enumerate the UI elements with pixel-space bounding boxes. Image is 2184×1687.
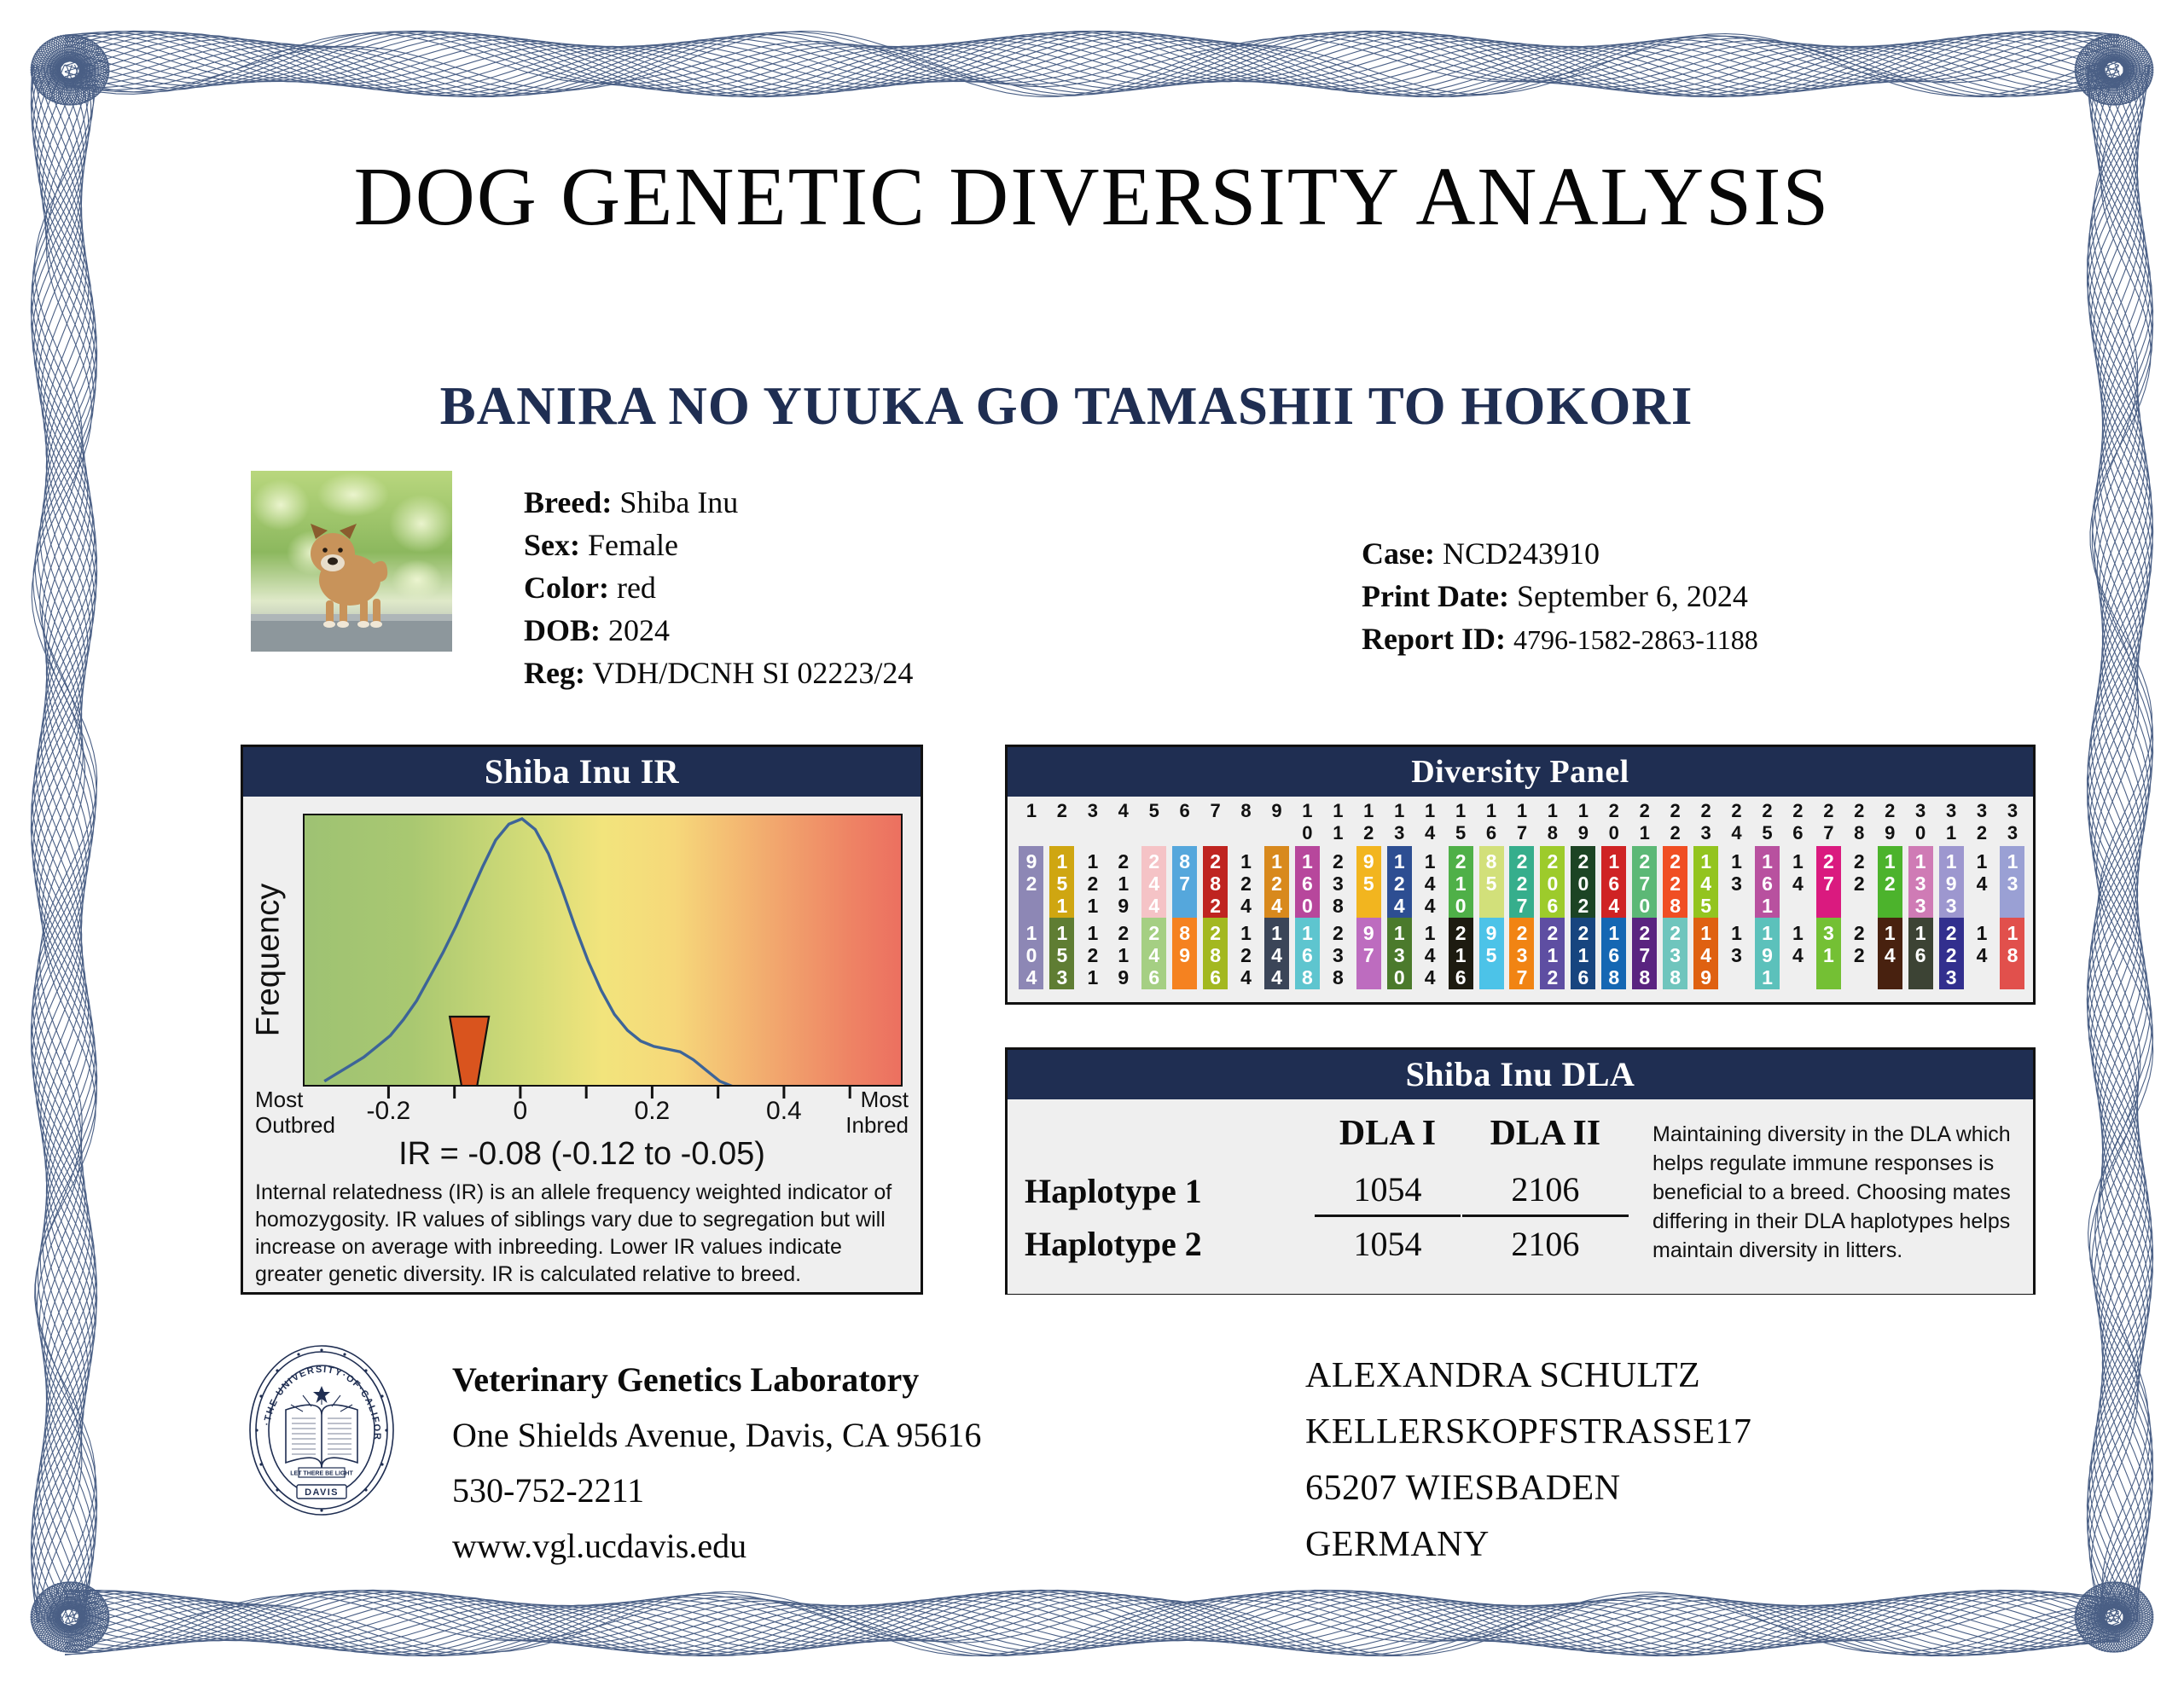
- diversity-column-number: 16: [1482, 797, 1501, 846]
- diversity-allele-2: 168: [1295, 918, 1320, 989]
- ir-tick-label: -0.2: [367, 1097, 411, 1126]
- diversity-allele-1: 27: [1816, 846, 1841, 918]
- diversity-allele-2: 278: [1632, 918, 1657, 989]
- reg-label: Reg:: [524, 656, 585, 690]
- diversity-allele-1: 164: [1601, 846, 1626, 918]
- diversity-column-20: 20164168: [1599, 797, 1629, 1002]
- dog-name-heading: BANIRA NO YUUKA GO TAMASHII TO HOKORI: [0, 375, 2133, 438]
- diversity-allele-2: 149: [1693, 918, 1718, 989]
- diversity-allele-2: 223: [1939, 918, 1964, 989]
- sex-value: Female: [588, 528, 678, 562]
- case-value: NCD243910: [1443, 536, 1600, 571]
- print-date-value: September 6, 2024: [1517, 579, 1748, 613]
- diversity-allele-1: 210: [1449, 846, 1473, 918]
- table-row: Haplotype 2 1054 2106: [1018, 1219, 1629, 1269]
- diversity-allele-1: 92: [1019, 846, 1043, 918]
- diversity-panel-columns: 1921042151153312112142192195244246687897…: [1016, 797, 2028, 1002]
- diversity-allele-1: 202: [1571, 846, 1595, 918]
- page-title: DOG GENETIC DIVERSITY ANALYSIS: [0, 149, 2184, 244]
- diversity-allele-2: 238: [1326, 918, 1350, 989]
- diversity-allele-1: 22: [1847, 846, 1872, 918]
- diversity-column-7: 7282286: [1200, 797, 1231, 1002]
- diversity-column-22: 22228238: [1660, 797, 1691, 1002]
- diversity-column-21: 21270278: [1629, 797, 1660, 1002]
- breed-label: Breed:: [524, 485, 612, 519]
- diversity-allele-1: 124: [1387, 846, 1412, 918]
- ir-tick-label: 0.4: [766, 1097, 802, 1126]
- diversity-column-number: 25: [1757, 797, 1776, 846]
- diversity-column-number: 15: [1451, 797, 1470, 846]
- ir-plot-wrap: Frequency: [303, 814, 903, 1087]
- uc-davis-seal: ·THE·UNIVERSITY·OF·CALIFORNIA· LET THERE…: [247, 1343, 397, 1518]
- diversity-allele-2: 219: [1111, 918, 1136, 989]
- diversity-allele-2: 97: [1356, 918, 1381, 989]
- diversity-allele-2: 16: [1908, 918, 1933, 989]
- diversity-panel-title: Diversity Panel: [1008, 747, 2033, 797]
- diversity-column-27: 272731: [1813, 797, 1844, 1002]
- diversity-column-30: 3013316: [1905, 797, 1936, 1002]
- diversity-column-number: 14: [1420, 797, 1439, 846]
- diversity-allele-1: 87: [1172, 846, 1197, 918]
- diversity-allele-1: 144: [1418, 846, 1443, 918]
- diversity-allele-1: 85: [1479, 846, 1504, 918]
- dla1-header: DLA I: [1315, 1108, 1461, 1162]
- diversity-panel: Diversity Panel 192104215115331211214219…: [1005, 745, 2036, 1005]
- diversity-allele-2: 124: [1234, 918, 1258, 989]
- diversity-column-2: 2151153: [1047, 797, 1077, 1002]
- case-label: Case:: [1362, 536, 1435, 571]
- reg-value: VDH/DCNH SI 02223/24: [592, 656, 913, 690]
- diversity-allele-1: 124: [1234, 846, 1258, 918]
- haplotype1-label: Haplotype 1: [1018, 1164, 1313, 1217]
- dog-photo: [251, 471, 452, 652]
- diversity-allele-2: 286: [1203, 918, 1228, 989]
- case-row: Case: NCD243910: [1362, 532, 1758, 575]
- diversity-column-29: 291214: [1874, 797, 1905, 1002]
- diversity-column-19: 19202216: [1568, 797, 1599, 1002]
- dog-info-block: Breed: Shiba Inu Sex: Female Color: red …: [524, 481, 913, 694]
- diversity-column-10: 10160168: [1292, 797, 1322, 1002]
- diversity-column-28: 282222: [1844, 797, 1874, 1002]
- diversity-allele-1: 13: [1724, 846, 1749, 918]
- diversity-column-11: 11238238: [1322, 797, 1353, 1002]
- diversity-allele-2: 212: [1540, 918, 1565, 989]
- report-id-label: Report ID:: [1362, 622, 1506, 656]
- diversity-column-number: 30: [1911, 797, 1930, 846]
- ir-most-inbred-label: MostInbred: [845, 1087, 909, 1138]
- diversity-column-24: 241313: [1722, 797, 1752, 1002]
- diversity-column-5: 5244246: [1139, 797, 1170, 1002]
- diversity-column-4: 4219219: [1108, 797, 1139, 1002]
- lab-address: One Shields Avenue, Davis, CA 95616: [452, 1407, 981, 1463]
- owner-address-line: KELLERSKOPFSTRASSE17: [1305, 1404, 1751, 1460]
- diversity-column-number: 28: [1850, 797, 1868, 846]
- diversity-column-14: 14144144: [1414, 797, 1445, 1002]
- dla-panel: Shiba Inu DLA DLA I DLA II Haplotype 1 1…: [1005, 1047, 2036, 1295]
- diversity-column-number: 29: [1880, 797, 1899, 846]
- diversity-allele-1: 151: [1049, 846, 1074, 918]
- diversity-allele-2: 14: [1970, 918, 1995, 989]
- diversity-column-number: 31: [1942, 797, 1960, 846]
- owner-address-block: ALEXANDRA SCHULTZKELLERSKOPFSTRASSE17652…: [1305, 1348, 1751, 1573]
- diversity-column-17: 17227237: [1507, 797, 1537, 1002]
- diversity-column-23: 23145149: [1691, 797, 1722, 1002]
- diversity-column-number: 33: [2003, 797, 2022, 846]
- diversity-allele-1: 219: [1111, 846, 1136, 918]
- diversity-allele-2: 14: [1878, 918, 1902, 989]
- diversity-allele-2: 121: [1080, 918, 1105, 989]
- diversity-column-number: 9: [1267, 797, 1286, 846]
- diversity-allele-1: 228: [1663, 846, 1687, 918]
- dob-value: 2024: [608, 613, 670, 647]
- diversity-allele-1: 160: [1295, 846, 1320, 918]
- diversity-allele-2: 130: [1387, 918, 1412, 989]
- diversity-allele-2: 237: [1509, 918, 1534, 989]
- ir-plot-area: [303, 814, 903, 1087]
- svg-text:LET THERE BE LIGHT: LET THERE BE LIGHT: [290, 1471, 353, 1477]
- dob-label: DOB:: [524, 613, 601, 647]
- diversity-allele-2: 168: [1601, 918, 1626, 989]
- diversity-column-16: 168595: [1476, 797, 1507, 1002]
- diversity-column-number: 23: [1697, 797, 1716, 846]
- dob-row: DOB: 2024: [524, 609, 913, 652]
- diversity-column-13: 13124130: [1384, 797, 1414, 1002]
- haplotype1-dla1: 1054: [1315, 1164, 1461, 1217]
- table-row: Haplotype 1 1054 2106: [1018, 1164, 1629, 1217]
- ir-panel-title: Shiba Inu IR: [243, 747, 921, 797]
- ir-panel: Shiba Inu IR Frequency -0.200.20.4 MostO…: [241, 745, 923, 1295]
- diversity-allele-1: 133: [1908, 846, 1933, 918]
- report-id-value: 4796-1582-2863-1188: [1513, 624, 1758, 655]
- diversity-allele-1: 244: [1141, 846, 1166, 918]
- diversity-allele-1: 206: [1540, 846, 1565, 918]
- diversity-allele-2: 216: [1449, 918, 1473, 989]
- ir-marker-triangle: [450, 1017, 489, 1087]
- diversity-column-number: 24: [1728, 797, 1746, 846]
- print-date-label: Print Date:: [1362, 579, 1509, 613]
- diversity-column-number: 12: [1359, 797, 1378, 846]
- diversity-column-number: 17: [1513, 797, 1531, 846]
- diversity-allele-1: 121: [1080, 846, 1105, 918]
- diversity-column-number: 5: [1145, 797, 1164, 846]
- diversity-column-12: 129597: [1353, 797, 1384, 1002]
- diversity-allele-1: 14: [1786, 846, 1810, 918]
- reg-row: Reg: VDH/DCNH SI 02223/24: [524, 652, 913, 694]
- diversity-allele-2: 14: [1786, 918, 1810, 989]
- diversity-column-number: 11: [1328, 797, 1347, 846]
- diversity-column-33: 331318: [1997, 797, 2028, 1002]
- dla-table: DLA I DLA II Haplotype 1 1054 2106 Haplo…: [1016, 1106, 1630, 1271]
- diversity-column-25: 25161191: [1752, 797, 1783, 1002]
- diversity-panel-body: 1921042151153312112142192195244246687897…: [1008, 797, 2033, 1002]
- diversity-allele-2: 191: [1755, 918, 1780, 989]
- ir-explanatory-note: Internal relatedness (IR) is an allele f…: [255, 1179, 909, 1288]
- report-id-row: Report ID: 4796-1582-2863-1188: [1362, 617, 1758, 661]
- diversity-column-6: 68789: [1170, 797, 1200, 1002]
- diversity-column-8: 8124124: [1231, 797, 1262, 1002]
- diversity-column-number: 13: [1390, 797, 1409, 846]
- haplotype1-dla2: 2106: [1462, 1164, 1629, 1217]
- diversity-column-number: 18: [1543, 797, 1562, 846]
- diversity-allele-2: 153: [1049, 918, 1074, 989]
- color-label: Color:: [524, 571, 609, 605]
- diversity-allele-2: 18: [2000, 918, 2024, 989]
- breed-value: Shiba Inu: [619, 485, 738, 519]
- diversity-allele-2: 89: [1172, 918, 1197, 989]
- ir-panel-body: Frequency -0.200.20.4 MostOutbred MostIn…: [243, 797, 921, 1294]
- diversity-allele-1: 227: [1509, 846, 1534, 918]
- diversity-column-9: 9124144: [1262, 797, 1292, 1002]
- diversity-allele-1: 238: [1326, 846, 1350, 918]
- owner-address-line: GERMANY: [1305, 1516, 1751, 1573]
- diversity-allele-2: 238: [1663, 918, 1687, 989]
- diversity-column-number: 22: [1666, 797, 1685, 846]
- diversity-column-32: 321414: [1966, 797, 1997, 1002]
- diversity-column-18: 18206212: [1537, 797, 1568, 1002]
- ir-tick-label: 0: [514, 1097, 528, 1126]
- sex-row: Sex: Female: [524, 524, 913, 566]
- owner-address-line: 65207 WIESBADEN: [1305, 1460, 1751, 1516]
- diversity-column-number: 2: [1053, 797, 1072, 846]
- case-info-block: Case: NCD243910 Print Date: September 6,…: [1362, 532, 1758, 661]
- diversity-allele-1: 95: [1356, 846, 1381, 918]
- diversity-column-number: 20: [1605, 797, 1623, 846]
- diversity-allele-1: 193: [1939, 846, 1964, 918]
- dla-panel-body: DLA I DLA II Haplotype 1 1054 2106 Haplo…: [1008, 1099, 2033, 1294]
- diversity-column-number: 10: [1298, 797, 1316, 846]
- diversity-allele-2: 216: [1571, 918, 1595, 989]
- ir-tick-label: 0.2: [635, 1097, 671, 1126]
- color-value: red: [617, 571, 656, 605]
- lab-name: Veterinary Genetics Laboratory: [452, 1352, 981, 1407]
- haplotype2-label: Haplotype 2: [1018, 1219, 1313, 1269]
- diversity-column-number: 7: [1206, 797, 1225, 846]
- diversity-column-3: 3121121: [1077, 797, 1108, 1002]
- dla-explanatory-note: Maintaining diversity in the DLA which h…: [1653, 1120, 2028, 1265]
- diversity-allele-2: 95: [1479, 918, 1504, 989]
- ir-value-text: IR = -0.08 (-0.12 to -0.05): [243, 1136, 921, 1173]
- dla2-header: DLA II: [1462, 1108, 1629, 1162]
- diversity-column-number: 32: [1972, 797, 1991, 846]
- breed-row: Breed: Shiba Inu: [524, 481, 913, 524]
- diversity-allele-2: 144: [1264, 918, 1289, 989]
- ir-x-tick-labels: -0.200.20.4: [303, 1097, 903, 1126]
- diversity-allele-1: 124: [1264, 846, 1289, 918]
- diversity-column-number: 21: [1635, 797, 1654, 846]
- diversity-column-31: 31193223: [1936, 797, 1966, 1002]
- lab-contact-block: Veterinary Genetics Laboratory One Shiel…: [452, 1352, 981, 1574]
- diversity-column-number: 27: [1819, 797, 1838, 846]
- diversity-column-26: 261414: [1782, 797, 1813, 1002]
- ir-most-outbred-label: MostOutbred: [255, 1087, 335, 1138]
- diversity-allele-1: 161: [1755, 846, 1780, 918]
- diversity-column-number: 8: [1237, 797, 1256, 846]
- lab-phone: 530-752-2211: [452, 1463, 981, 1518]
- diversity-column-number: 26: [1788, 797, 1807, 846]
- owner-address-line: ALEXANDRA SCHULTZ: [1305, 1348, 1751, 1404]
- print-date-row: Print Date: September 6, 2024: [1362, 575, 1758, 617]
- ir-y-axis-label: Frequency: [251, 820, 288, 1101]
- lab-website[interactable]: www.vgl.ucdavis.edu: [452, 1518, 981, 1574]
- diversity-allele-1: 14: [1970, 846, 1995, 918]
- diversity-column-15: 15210216: [1445, 797, 1476, 1002]
- diversity-allele-2: 104: [1019, 918, 1043, 989]
- haplotype2-dla2: 2106: [1462, 1219, 1629, 1269]
- diversity-allele-2: 144: [1418, 918, 1443, 989]
- color-row: Color: red: [524, 566, 913, 609]
- diversity-allele-1: 12: [1878, 846, 1902, 918]
- diversity-column-number: 4: [1114, 797, 1133, 846]
- diversity-allele-2: 31: [1816, 918, 1841, 989]
- diversity-allele-2: 22: [1847, 918, 1872, 989]
- diversity-allele-1: 13: [2000, 846, 2024, 918]
- sex-label: Sex:: [524, 528, 580, 562]
- diversity-column-number: 3: [1083, 797, 1102, 846]
- diversity-allele-1: 282: [1203, 846, 1228, 918]
- diversity-allele-1: 145: [1693, 846, 1718, 918]
- dla-header-row: DLA I DLA II: [1018, 1108, 1629, 1162]
- diversity-column-number: 1: [1022, 797, 1041, 846]
- dla-panel-title: Shiba Inu DLA: [1008, 1050, 2033, 1099]
- diversity-allele-1: 270: [1632, 846, 1657, 918]
- diversity-allele-2: 13: [1724, 918, 1749, 989]
- diversity-allele-2: 246: [1141, 918, 1166, 989]
- diversity-column-number: 19: [1574, 797, 1593, 846]
- diversity-column-1: 192104: [1016, 797, 1047, 1002]
- haplotype2-dla1: 1054: [1315, 1219, 1461, 1269]
- diversity-column-number: 6: [1176, 797, 1194, 846]
- svg-text:DAVIS: DAVIS: [305, 1487, 339, 1498]
